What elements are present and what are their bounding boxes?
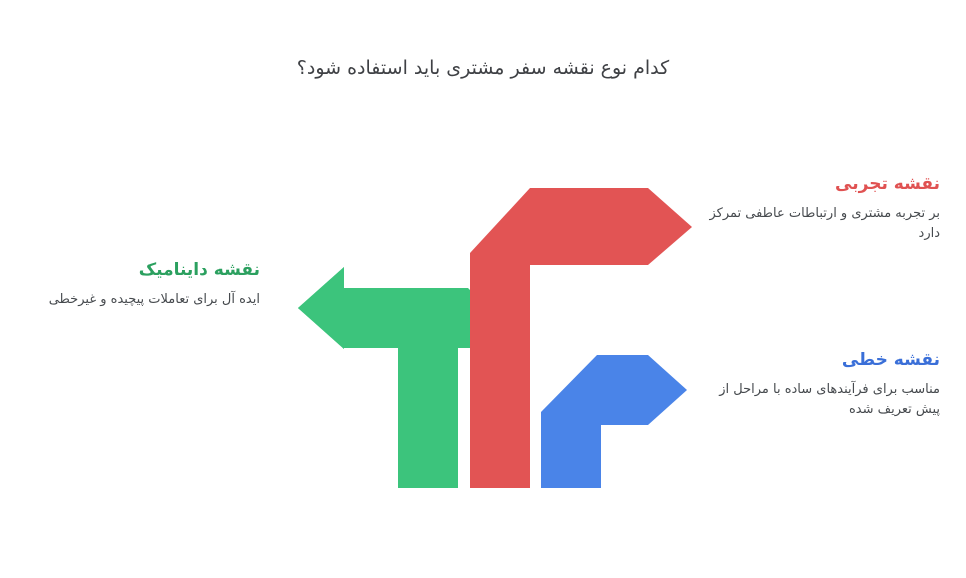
arrow-linear-blue-head [648,355,687,425]
arrow-linear-blue-stem [541,418,601,488]
page-title: کدام نوع نقشه سفر مشتری باید استفاده شود… [0,54,966,82]
arrow-experiential-red-head [648,188,692,265]
callout-linear-description: مناسب برای فرآیندهای ساده با مراحل از پی… [704,380,940,420]
callout-experiential-title: نقشه تجربی [704,172,940,196]
callout-dynamic-title: نقشه داینامیک [28,258,260,282]
callout-linear-title: نقشه خطی [704,348,940,372]
arrow-experiential-red-body [470,188,648,265]
arrow-linear-blue-body [541,355,648,425]
callout-dynamic-description: ایده آل برای تعاملات پیچیده و غیرخطی [28,290,260,310]
arrow-dynamic-green-stem [398,340,458,488]
arrow-experiential-red-stem [470,260,530,488]
callout-linear: نقشه خطی مناسب برای فرآیندهای ساده با مر… [704,348,940,420]
callout-dynamic: نقشه داینامیک ایده آل برای تعاملات پیچید… [28,258,260,310]
callout-experiential-description: بر تجربه مشتری و ارتباطات عاطفی تمرکز دا… [704,204,940,244]
arrow-linear-blue[interactable] [541,355,687,488]
callout-experiential: نقشه تجربی بر تجربه مشتری و ارتباطات عاط… [704,172,940,244]
